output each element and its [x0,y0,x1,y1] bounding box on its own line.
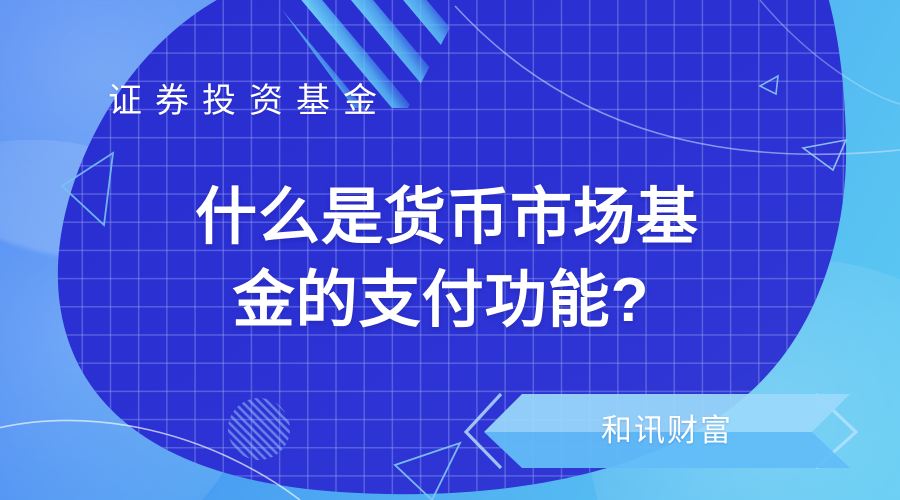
triangle-outline-bottom [395,443,460,500]
striped-circle-decoration [228,398,290,460]
poster-headline: 什么是货币市场基 金的支付功能? [0,176,900,342]
headline-line-2: 金的支付功能? [0,259,900,342]
poster-canvas: 证券投资基金 什么是货币市场基 金的支付功能? 和讯财富 [0,0,900,500]
triangle-outline-small-top-right [760,76,778,94]
poster-kicker: 证券投资基金 [108,80,390,122]
brand-ribbon-label: 和讯财富 [552,411,782,451]
headline-line-1: 什么是货币市场基 [0,176,900,259]
